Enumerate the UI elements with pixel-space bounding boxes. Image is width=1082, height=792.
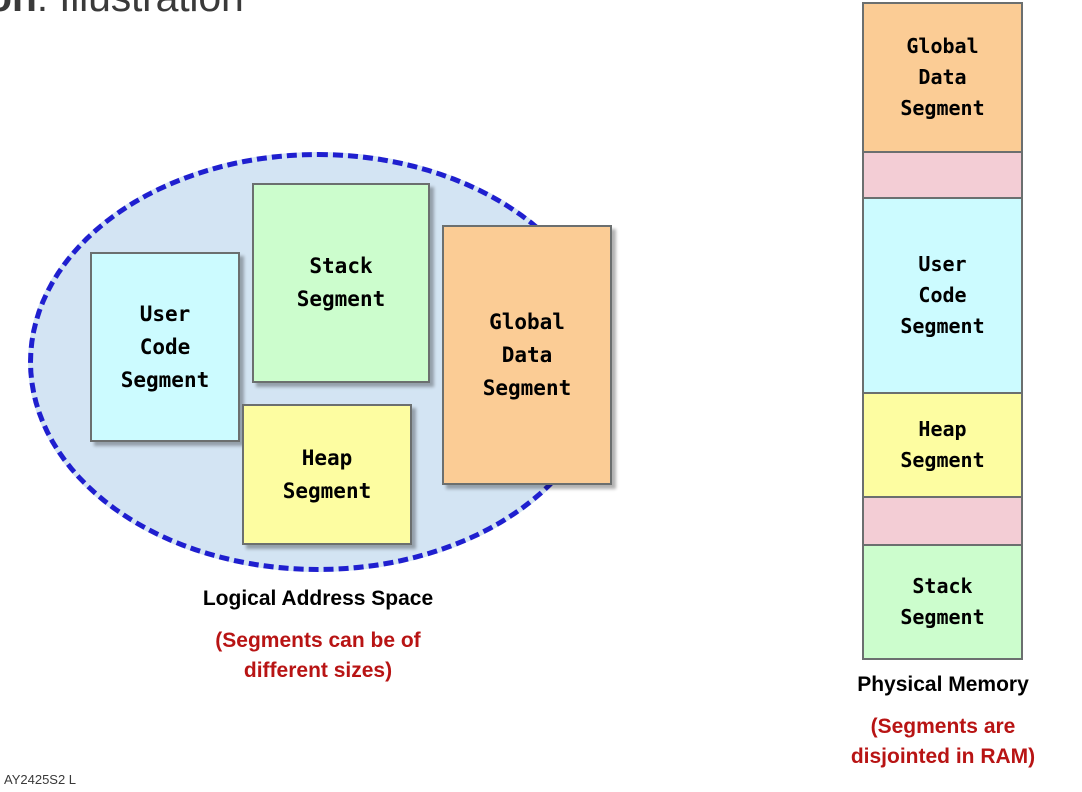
physical-memory-column: Global Data Segment User Code Segment He… — [862, 2, 1023, 660]
ram-band-label-line: Segment — [900, 445, 984, 476]
logical-segment-global-data: Global Data Segment — [442, 225, 612, 485]
ram-band-label-line: Stack — [912, 571, 972, 602]
ram-band-heap: Heap Segment — [864, 394, 1021, 499]
segment-label-line: Global — [489, 306, 565, 339]
segment-label-line: Segment — [297, 283, 386, 316]
page-title: Segmentation: Illustration — [0, 0, 668, 24]
note-line: (Segments can be of — [108, 626, 528, 656]
note-line: disjointed in RAM) — [812, 742, 1074, 772]
segment-label-line: Code — [140, 331, 191, 364]
physical-memory-caption: Physical Memory — [820, 672, 1066, 698]
ram-band-label-line: Code — [918, 280, 966, 311]
ram-band-label-line: Global — [906, 31, 978, 62]
ram-band-label-line: Segment — [900, 311, 984, 342]
footer-slide-id: AY2425S2 L — [4, 772, 76, 788]
segment-label-line: Segment — [483, 372, 572, 405]
note-line: (Segments are — [812, 712, 1074, 742]
note-line: different sizes) — [108, 656, 528, 686]
ram-band-user-code: User Code Segment — [864, 199, 1021, 394]
page-title-separator: : — [37, 0, 59, 20]
segment-label-line: Stack — [309, 250, 372, 283]
page-title-light: Illustration — [59, 0, 243, 20]
physical-memory-note: (Segments are disjointed in RAM) — [812, 712, 1074, 772]
logical-segment-user-code: User Code Segment — [90, 252, 240, 442]
ram-band-label-line: Segment — [900, 93, 984, 124]
ram-band-label-line: Data — [918, 62, 966, 93]
logical-segment-stack: Stack Segment — [252, 183, 430, 383]
ram-band-free-gap — [864, 153, 1021, 199]
ram-band-free-gap — [864, 498, 1021, 546]
logical-segment-heap: Heap Segment — [242, 404, 412, 545]
logical-address-space-note: (Segments can be of different sizes) — [108, 626, 528, 686]
segment-label-line: Data — [502, 339, 553, 372]
ram-band-label-line: Heap — [918, 414, 966, 445]
page-title-strong: Segmentation — [0, 0, 37, 20]
ram-band-label-line: Segment — [900, 602, 984, 633]
segment-label-line: Heap — [302, 442, 353, 475]
segment-label-line: Segment — [121, 364, 210, 397]
segment-label-line: Segment — [283, 475, 372, 508]
ram-band-label-line: User — [918, 249, 966, 280]
logical-address-space-caption: Logical Address Space — [28, 586, 608, 612]
ram-band-global-data: Global Data Segment — [864, 4, 1021, 153]
ram-band-stack: Stack Segment — [864, 546, 1021, 658]
segment-label-line: User — [140, 298, 191, 331]
